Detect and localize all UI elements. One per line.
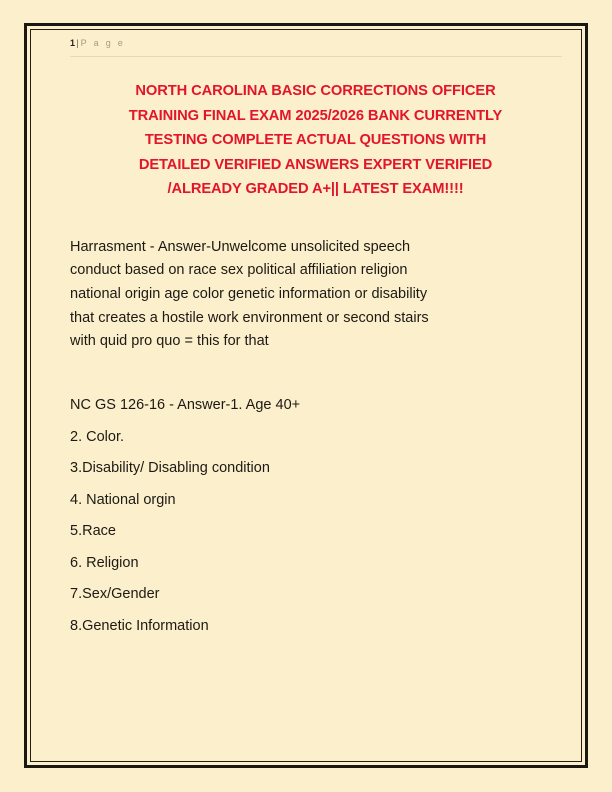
paragraph-line-4: that creates a hostile work environment … [70,307,530,331]
paragraph-line-1: Harrasment - Answer-Unwelcome unsolicite… [70,236,530,260]
running-header: 1|P a g e [70,37,563,56]
page-border-frame: 1|P a g e NORTH CAROLINA BASIC CORRECTIO… [24,23,588,768]
list-item: 5.Race [70,520,563,543]
header-page-number: 1 [70,38,75,48]
title-line-5: /ALREADY GRADED A+|| LATEST EXAM!!!! [92,177,539,202]
title-line-2: TRAINING FINAL EXAM 2025/2026 BANK CURRE… [92,104,539,129]
header-page-label: P a g e [81,38,125,48]
paragraph-line-3: national origin age color genetic inform… [70,283,530,307]
list-item: 8.Genetic Information [70,615,563,638]
list-item: 6. Religion [70,552,563,575]
document-page: 1|P a g e NORTH CAROLINA BASIC CORRECTIO… [0,0,612,792]
document-body: Harrasment - Answer-Unwelcome unsolicite… [70,236,563,638]
list-item: 2. Color. [70,426,563,449]
page-content-area: 1|P a g e NORTH CAROLINA BASIC CORRECTIO… [27,26,585,765]
title-line-3: TESTING COMPLETE ACTUAL QUESTIONS WITH [92,128,539,153]
document-title: NORTH CAROLINA BASIC CORRECTIONS OFFICER… [92,79,539,202]
list-item: 3.Disability/ Disabling condition [70,457,563,480]
list-item: 7.Sex/Gender [70,583,563,606]
title-line-1: NORTH CAROLINA BASIC CORRECTIONS OFFICER [92,79,539,104]
list-item: 4. National orgin [70,489,563,512]
paragraph-line-2: conduct based on race sex political affi… [70,259,530,283]
paragraph-line-5: with quid pro quo = this for that [70,330,530,354]
protected-classes-list: NC GS 126-16 - Answer-1. Age 40+ 2. Colo… [70,394,563,638]
list-item: NC GS 126-16 - Answer-1. Age 40+ [70,394,563,417]
header-separator: | [76,38,78,48]
title-line-4: DETAILED VERIFIED ANSWERS EXPERT VERIFIE… [92,153,539,178]
harassment-definition-paragraph: Harrasment - Answer-Unwelcome unsolicite… [70,236,530,355]
header-divider-rule [70,56,562,57]
